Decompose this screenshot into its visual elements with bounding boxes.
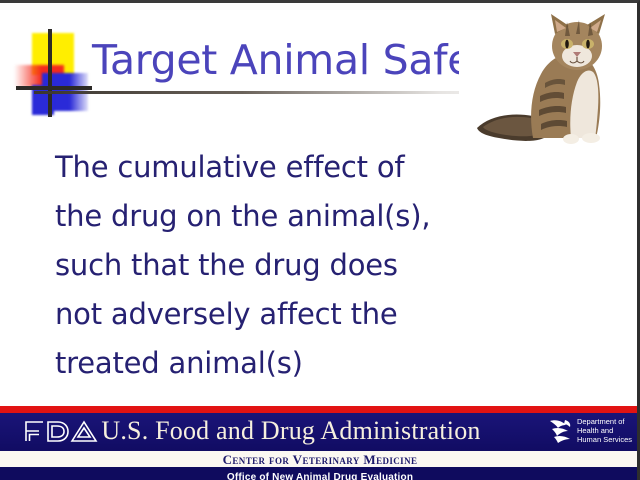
- footer-office-strip: Office of New Animal Drug Evaluation: [0, 467, 640, 480]
- logo-vertical-bar: [48, 29, 52, 117]
- body-line: such that the drug does: [55, 241, 485, 290]
- decorative-logo-mark: [14, 29, 92, 117]
- fda-footer-banner: U.S. Food and Drug Administration Depart…: [0, 406, 640, 480]
- slide-body-text: The cumulative effect of the drug on the…: [55, 143, 485, 388]
- office-label: Office of New Animal Drug Evaluation: [227, 472, 413, 480]
- hhs-line: Department of: [577, 417, 632, 426]
- footer-red-stripe: [0, 406, 640, 413]
- body-line: treated animal(s): [55, 339, 485, 388]
- hhs-logo-block: Department of Health and Human Services: [547, 416, 632, 444]
- cat-photo: [459, 6, 634, 148]
- body-line: the drug on the animal(s),: [55, 192, 485, 241]
- hhs-line: Health and: [577, 426, 632, 435]
- presentation-slide: Target Animal Safety: [0, 0, 640, 480]
- footer-main-bar: U.S. Food and Drug Administration Depart…: [0, 413, 640, 451]
- agency-title: U.S. Food and Drug Administration: [0, 416, 640, 446]
- logo-horizontal-bar: [16, 86, 92, 90]
- center-for-veterinary-medicine-label: Center for Veterinary Medicine: [223, 452, 418, 467]
- cat-image-icon: [459, 6, 634, 148]
- hhs-eagle-icon: [547, 416, 573, 444]
- hhs-text-block: Department of Health and Human Services: [577, 417, 632, 444]
- hhs-line: Human Services: [577, 435, 632, 444]
- page-title: Target Animal Safety: [92, 35, 512, 85]
- footer-center-strip: Center for Veterinary Medicine: [0, 451, 640, 467]
- body-line: not adversely affect the: [55, 290, 485, 339]
- body-line: The cumulative effect of: [55, 143, 485, 192]
